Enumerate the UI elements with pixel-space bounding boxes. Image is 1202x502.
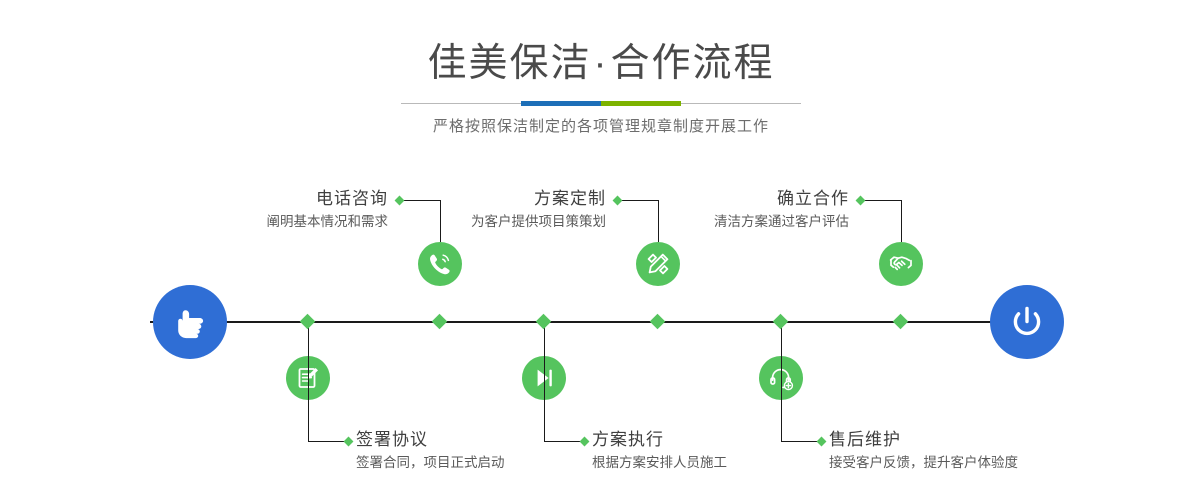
step-desc-6: 接受客户反馈，提升客户体验度 — [829, 452, 1018, 474]
phone-icon — [427, 251, 453, 277]
page-title: 佳美保洁·合作流程 — [0, 0, 1202, 90]
connector-vline-5 — [901, 200, 902, 242]
step-label-6: 售后维护 接受客户反馈，提升客户体验度 — [829, 428, 1018, 474]
step-title-3: 方案定制 — [348, 187, 606, 211]
step-node-1 — [418, 242, 462, 286]
cooperation-process-infographic: 佳美保洁·合作流程 严格按照保洁制定的各项管理规章制度开展工作 — [0, 0, 1202, 502]
label-marker-4 — [580, 437, 590, 447]
pointing-hand-icon — [169, 301, 211, 343]
label-marker-6 — [817, 437, 827, 447]
connector-hline-6 — [781, 441, 821, 442]
axis-diamond-4 — [536, 314, 552, 330]
axis-diamond-1 — [432, 314, 448, 330]
step-desc-3: 为客户提供项目策策划 — [348, 211, 606, 233]
title-divider — [401, 101, 801, 106]
step-label-5: 确立合作 清洁方案通过客户评估 — [591, 187, 849, 233]
label-marker-2 — [344, 437, 354, 447]
step-title-2: 签署协议 — [356, 428, 505, 452]
step-desc-5: 清洁方案通过客户评估 — [591, 211, 849, 233]
title-separator-dot: · — [592, 42, 611, 85]
step-desc-4: 根据方案安排人员施工 — [592, 452, 727, 474]
step-node-3 — [636, 242, 680, 286]
axis-diamond-3 — [650, 314, 666, 330]
step-desc-2: 签署合同，项目正式启动 — [356, 452, 505, 474]
connector-vline-2 — [308, 321, 309, 441]
step-label-4: 方案执行 根据方案安排人员施工 — [592, 428, 727, 474]
label-marker-5 — [856, 196, 866, 206]
axis-diamond-2 — [300, 314, 316, 330]
handshake-icon — [888, 251, 914, 277]
timeline-end-node — [990, 285, 1064, 359]
step-label-3: 方案定制 为客户提供项目策策划 — [348, 187, 606, 233]
page-title-left: 佳美保洁 — [427, 42, 591, 85]
timeline-axis — [150, 321, 1052, 323]
step-node-5 — [879, 242, 923, 286]
step-title-6: 售后维护 — [829, 428, 1018, 452]
pencil-ruler-icon — [645, 251, 671, 277]
step-label-2: 签署协议 签署合同，项目正式启动 — [356, 428, 505, 474]
header: 佳美保洁·合作流程 严格按照保洁制定的各项管理规章制度开展工作 — [0, 0, 1202, 138]
axis-diamond-6 — [773, 314, 789, 330]
connector-vline-6 — [781, 321, 782, 441]
page-subtitle: 严格按照保洁制定的各项管理规章制度开展工作 — [0, 106, 1202, 138]
timeline-start-node — [153, 285, 227, 359]
connector-hline-5 — [861, 200, 901, 201]
axis-diamond-5 — [893, 314, 909, 330]
step-title-5: 确立合作 — [591, 187, 849, 211]
step-title-4: 方案执行 — [592, 428, 727, 452]
connector-vline-4 — [544, 321, 545, 441]
power-icon — [1005, 300, 1049, 344]
connector-hline-4 — [544, 441, 584, 442]
divider-segment-green — [601, 101, 681, 106]
divider-segment-blue — [521, 101, 601, 106]
connector-hline-2 — [308, 441, 348, 442]
page-title-right: 合作流程 — [611, 42, 775, 85]
